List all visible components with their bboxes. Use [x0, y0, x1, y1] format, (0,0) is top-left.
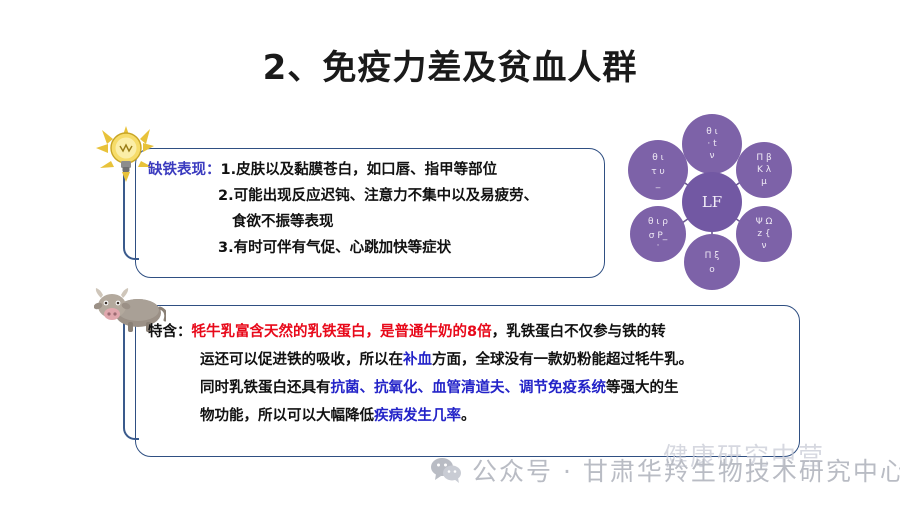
lf-node-bottom: [684, 234, 740, 290]
lf-node-bl-line-2: σ Ρ_: [649, 231, 668, 241]
symptoms-line-1: 缺铁表现：1.皮肤以及黏膜苍白，如口唇、指甲等部位: [148, 157, 538, 183]
lf-node-tl-line-3: _: [655, 179, 661, 189]
watermark-text: 公众号 · 甘肃华羚生物技术研究中心: [472, 452, 900, 488]
feature-line-4: 物功能，所以可以大幅降低疾病发生几率。: [148, 402, 693, 430]
lf-node-br-line-2: z {: [757, 229, 770, 239]
lf-node-top-line-3: ν: [709, 151, 714, 161]
feature-label: 特含：: [148, 324, 192, 340]
wechat-icon: [430, 457, 462, 483]
lightbulb-icon: [96, 126, 156, 182]
symptoms-line-2: 2.可能出现反应迟钝、注意力不集中以及易疲劳、: [148, 183, 538, 209]
symptoms-line-4: 3.有时可伴有气促、心跳加快等症状: [148, 235, 538, 261]
feature-line-4-blue: 疾病发生几率: [374, 408, 461, 424]
feature-line-2-b: 方面，全球没有一款奶粉能超过牦牛乳。: [432, 352, 693, 368]
lf-node-bl-line-3: ·: [657, 241, 660, 251]
feature-text-block: 特含：牦牛乳富含天然的乳铁蛋白，是普通牛奶的8倍，乳铁蛋白不仅参与铁的转 运还可…: [148, 318, 693, 430]
lf-node-tr-line-3: μ: [761, 177, 767, 187]
lf-node-bl-line-1: θ ι ρ: [648, 217, 668, 227]
lactoferrin-hub-diagram: LF θ ι · t ν Π β Κ λ μ Ψ Ω z { ν Π ξ ο θ…: [612, 112, 812, 292]
lf-node-tl-line-2: τ υ: [651, 167, 665, 177]
feature-line-2-blue: 补血: [403, 352, 432, 368]
lf-node-tl-line-1: θ ι: [652, 153, 663, 163]
feature-line-2: 运还可以促进铁的吸收，所以在补血方面，全球没有一款奶粉能超过牦牛乳。: [148, 346, 693, 374]
lf-node-tr-line-1: Π β: [756, 153, 772, 163]
lf-node-bottom-line-1: Π ξ: [705, 251, 720, 261]
watermark: 公众号 · 甘肃华羚生物技术研究中心: [430, 452, 900, 488]
feature-line-1: 特含：牦牛乳富含天然的乳铁蛋白，是普通牛奶的8倍，乳铁蛋白不仅参与铁的转: [148, 318, 693, 346]
feature-line-2-a: 运还可以促进铁的吸收，所以在: [200, 352, 403, 368]
lf-node-bottom-line-2: ο: [709, 265, 715, 275]
lf-node-tr-line-2: Κ λ: [757, 165, 772, 175]
feature-line-3-blue: 抗菌、抗氧化、血管清道夫、调节免疫系统: [331, 380, 607, 396]
symptoms-line-3: 食欲不振等表现: [148, 209, 538, 235]
feature-line-3-b: 等强大的生: [606, 380, 679, 396]
slide-canvas: 2、免疫力差及贫血人群: [0, 0, 900, 506]
page-title: 2、免疫力差及贫血人群: [0, 40, 900, 89]
feature-line-1-red: 牦牛乳富含天然的乳铁蛋白，是普通牛奶的8倍: [192, 324, 492, 340]
symptoms-label: 缺铁表现：: [148, 162, 221, 178]
lf-node-top-line-2: · t: [707, 139, 717, 149]
feature-line-3-a: 同时乳铁蛋白还具有: [200, 380, 331, 396]
feature-line-4-b: 。: [461, 408, 476, 424]
lf-hub-label: LF: [702, 193, 722, 211]
lf-node-top-line-1: θ ι: [706, 127, 717, 137]
lf-node-br-line-3: ν: [761, 241, 766, 251]
feature-line-4-a: 物功能，所以可以大幅降低: [200, 408, 374, 424]
feature-line-1-black: ，乳铁蛋白不仅参与铁的转: [492, 324, 666, 340]
symptoms-text-block: 缺铁表现：1.皮肤以及黏膜苍白，如口唇、指甲等部位 2.可能出现反应迟钝、注意力…: [148, 157, 538, 261]
lf-node-br-line-1: Ψ Ω: [756, 217, 773, 227]
feature-line-3: 同时乳铁蛋白还具有抗菌、抗氧化、血管清道夫、调节免疫系统等强大的生: [148, 374, 693, 402]
symptoms-line-1-text: 1.皮肤以及黏膜苍白，如口唇、指甲等部位: [221, 162, 498, 178]
